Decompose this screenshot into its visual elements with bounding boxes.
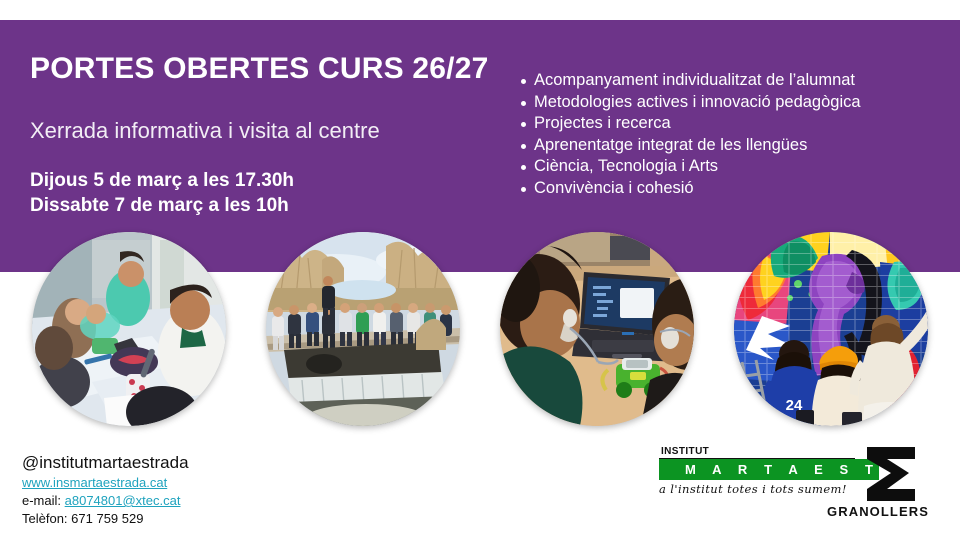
phone-line: Telèfon: 671 759 529: [22, 510, 189, 528]
contact-block: @institutmartaestrada www.insmartaestrad…: [22, 452, 189, 528]
photo-mural-painting: 24: [734, 232, 928, 426]
logo-institut-label: INSTITUT: [661, 446, 709, 457]
sigma-icon: [863, 445, 919, 503]
phone-label: Telèfon:: [22, 511, 68, 526]
logo-city-label: GRANOLLERS: [827, 504, 929, 519]
website-line: www.insmartaestrada.cat: [22, 474, 189, 492]
email-link[interactable]: a8074801@xtec.cat: [65, 493, 181, 508]
email-label: e-mail:: [22, 493, 61, 508]
logo-tagline: a l'institut totes i tots sumem!: [659, 482, 847, 496]
email-line: e-mail: a8074801@xtec.cat: [22, 492, 189, 510]
page-subtitle: Xerrada informativa i visita al centre: [30, 118, 380, 144]
feature-item: Aprenentatge integrat de les llengües: [520, 135, 861, 157]
school-logo: INSTITUT M A R T A E S T R A D A a l'ins…: [655, 446, 945, 526]
page-title: PORTES OBERTES CURS 26/27: [30, 52, 488, 86]
poster-canvas: PORTES OBERTES CURS 26/27 Xerrada inform…: [0, 0, 960, 540]
photo-classroom-workshop: [32, 232, 226, 426]
event-date-thursday: Dijous 5 de març a les 17.30h: [30, 168, 294, 193]
feature-item: Acompanyament individualitzat de l’alumn…: [520, 70, 861, 92]
photo-outdoor-field-trip: [266, 232, 460, 426]
event-date-saturday: Dissabte 7 de març a les 10h: [30, 193, 294, 218]
website-link[interactable]: www.insmartaestrada.cat: [22, 475, 167, 490]
feature-item: Ciència, Tecnologia i Arts: [520, 156, 861, 178]
feature-item: Metodologies actives i innovació pedagòg…: [520, 92, 861, 114]
feature-list: Acompanyament individualitzat de l’alumn…: [520, 70, 861, 199]
social-handle: @institutmartaestrada: [22, 452, 189, 474]
event-dates: Dijous 5 de març a les 17.30h Dissabte 7…: [30, 168, 294, 218]
phone-number: 671 759 529: [71, 511, 143, 526]
feature-item: Projectes i recerca: [520, 113, 861, 135]
photo-robotics-laptop: [500, 232, 694, 426]
feature-item: Convivència i cohesió: [520, 178, 861, 200]
